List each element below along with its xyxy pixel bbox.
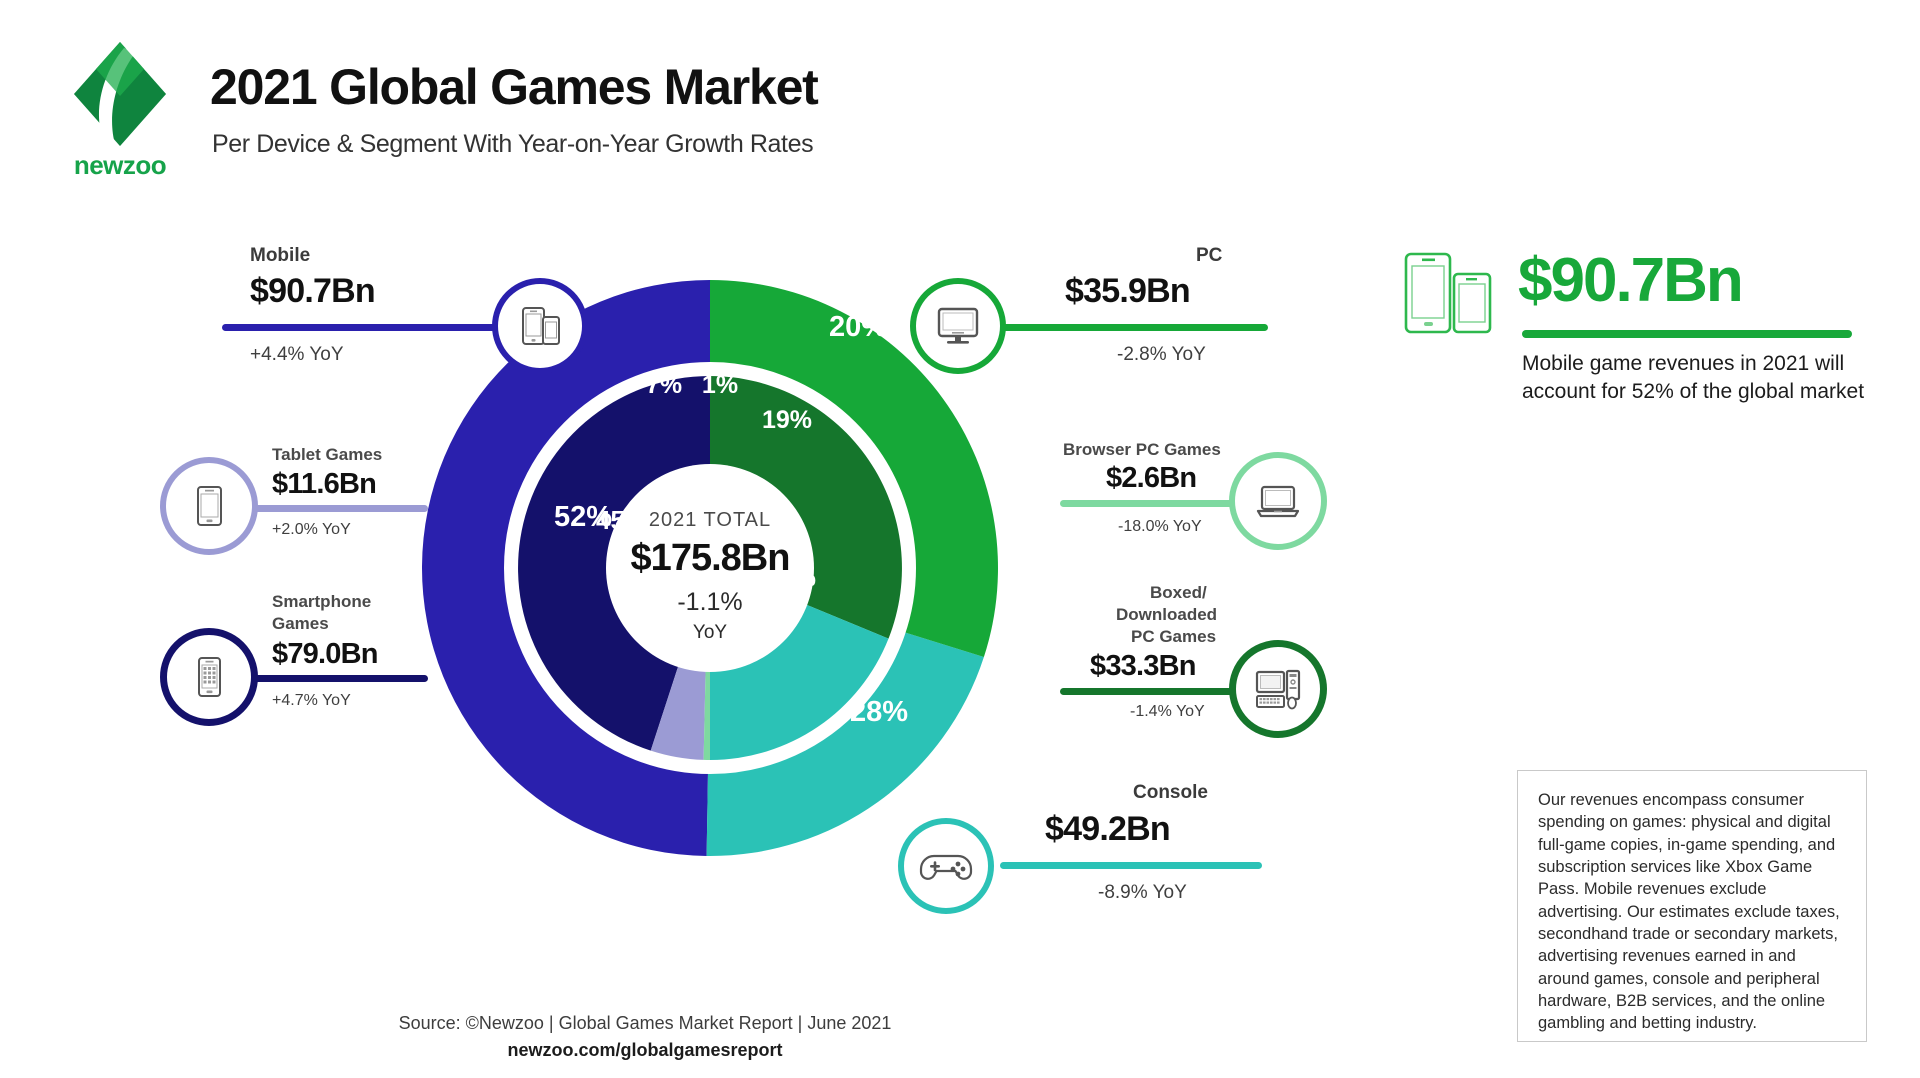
monitor-icon (932, 300, 984, 352)
callout-boxed-title-line2: Downloaded (1116, 605, 1217, 624)
callout-console-leader-line (1000, 862, 1262, 869)
callout-console-yoy: -8.9% YoY (1098, 882, 1187, 904)
outer-label-console: 28% (850, 696, 908, 728)
callout-tablet-title: Tablet Games (272, 445, 382, 464)
callout-mobile-title: Mobile (250, 245, 310, 266)
callout-pc-icon-badge (910, 278, 1006, 374)
callout-browser-leader-line (1060, 500, 1240, 507)
callout-boxed-yoy: -1.4% YoY (1130, 703, 1205, 721)
hero-icon-wrap (1400, 248, 1512, 340)
callout-browser-title: Browser PC Games (1063, 440, 1221, 459)
phone-tablet-icon (515, 301, 565, 351)
callout-browser-icon-badge (1229, 452, 1327, 550)
newzoo-diamond-icon (72, 40, 168, 148)
inner-label-smartphone: 45% (596, 505, 648, 535)
callout-tablet-icon-badge (160, 457, 258, 555)
callout-mobile-yoy: +4.4% YoY (250, 344, 344, 366)
callout-browser-yoy: -18.0% YoY (1118, 518, 1202, 536)
callout-console-value: $49.2Bn (1045, 810, 1170, 849)
callout-pc-title: PC (1196, 245, 1222, 266)
callout-pc-leader-line (1000, 324, 1268, 331)
inner-label-tablet: 7% (646, 371, 682, 399)
callout-boxed-icon-badge (1229, 640, 1327, 738)
callout-boxed-value: $33.3Bn (1090, 650, 1196, 683)
callout-smartphone-title-line1: Smartphone (272, 592, 371, 611)
hero-description: Mobile game revenues in 2021 will accoun… (1522, 350, 1872, 405)
callout-smartphone-yoy: +4.7% YoY (272, 692, 351, 710)
callout-boxed-title-line1: Boxed/ (1150, 583, 1207, 602)
outer-label-pc: 20% (829, 311, 887, 343)
center-total-value: $175.8Bn (631, 537, 790, 579)
tablet-icon (186, 483, 232, 529)
hero-underline (1522, 330, 1852, 338)
page-subtitle: Per Device & Segment With Year-on-Year G… (212, 130, 813, 159)
callout-boxed-title-line3: PC Games (1131, 627, 1216, 646)
callout-smartphone-leader-line (250, 675, 428, 682)
callout-smartphone-title-line2: Games (272, 614, 329, 633)
callout-smartphone-value: $79.0Bn (272, 638, 378, 671)
callout-tablet-leader-line (250, 505, 428, 512)
callout-mobile-icon-badge (492, 278, 588, 374)
source-line: Source: ©Newzoo | Global Games Market Re… (0, 1013, 1290, 1034)
inner-label-browser: 1% (702, 371, 738, 399)
callout-smartphone-icon-badge (160, 628, 258, 726)
callout-pc-yoy: -2.8% YoY (1117, 344, 1206, 366)
infographic-canvas: newzoo 2021 Global Games Market Per Devi… (0, 0, 1920, 1078)
laptop-icon (1253, 476, 1303, 526)
disclaimer-text: Our revenues encompass consumer spending… (1538, 789, 1846, 1035)
callout-tablet-value: $11.6Bn (272, 468, 376, 501)
center-label: 2021 TOTAL (649, 509, 771, 531)
callout-mobile-value: $90.7Bn (250, 272, 375, 311)
center-yoy-unit: YoY (693, 622, 727, 643)
disclaimer-box: Our revenues encompass consumer spending… (1517, 770, 1867, 1042)
newzoo-wordmark: newzoo (60, 150, 180, 181)
center-yoy-value: -1.1% (677, 588, 742, 616)
callout-tablet-yoy: +2.0% YoY (272, 521, 351, 539)
source-url[interactable]: newzoo.com/globalgamesreport (0, 1040, 1290, 1061)
desktop-pc-icon (1251, 662, 1305, 716)
newzoo-logo: newzoo (60, 40, 180, 170)
page-title: 2021 Global Games Market (210, 58, 818, 116)
callout-console-title: Console (1133, 782, 1208, 803)
hero-value: $90.7Bn (1518, 245, 1742, 316)
callout-mobile-leader-line (222, 324, 512, 331)
smartphone-icon (186, 654, 232, 700)
callout-console-icon-badge (898, 818, 994, 914)
callout-browser-value: $2.6Bn (1106, 462, 1196, 495)
callout-pc-value: $35.9Bn (1065, 272, 1190, 311)
inner-label-boxed: 19% (762, 406, 812, 434)
callout-boxed-leader-line (1060, 688, 1238, 695)
phone-tablet-icon (1400, 248, 1512, 340)
gamepad-icon (919, 846, 973, 886)
